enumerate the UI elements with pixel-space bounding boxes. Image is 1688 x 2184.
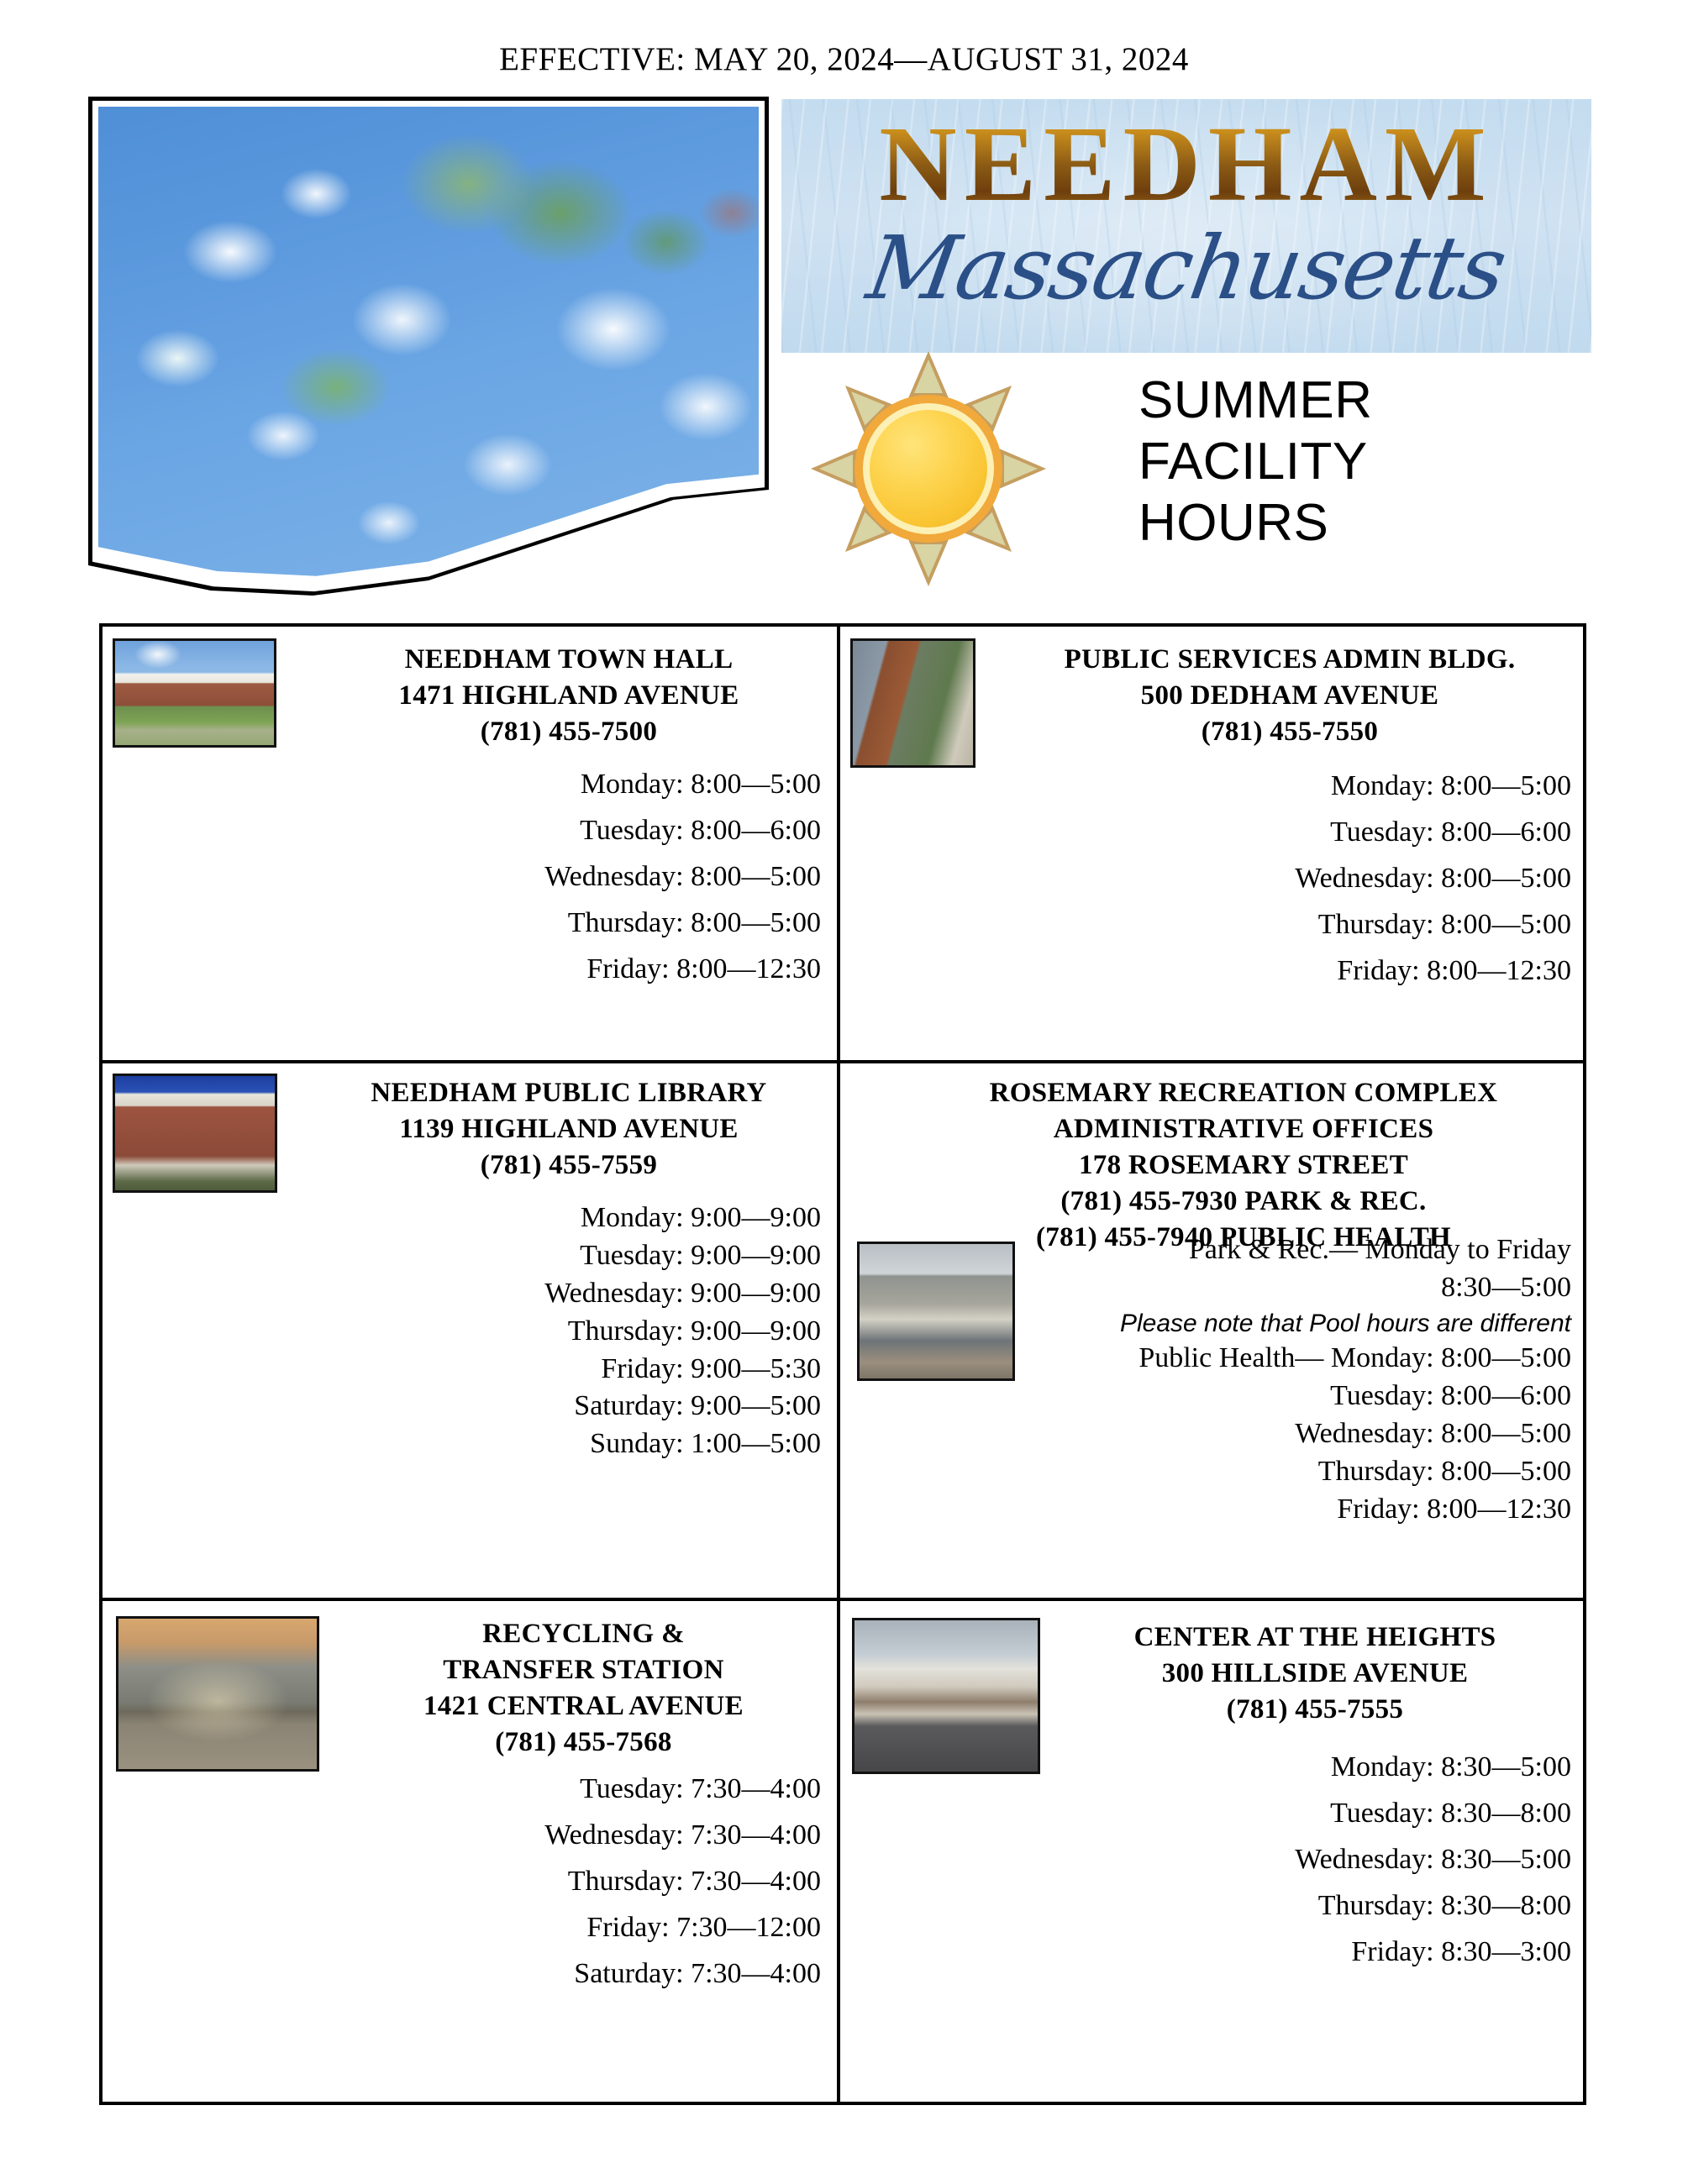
facility-hours: Monday: 8:00—5:00Tuesday: 8:00—6:00Wedne… [317, 761, 821, 992]
sun-ray-n [908, 351, 949, 398]
sun-ray-s [908, 539, 949, 586]
facility-hours: Monday: 9:00—9:00Tuesday: 9:00—9:00Wedne… [317, 1200, 821, 1463]
facility-heading: PUBLIC SERVICES ADMIN BLDG.500 DEDHAM AV… [1008, 642, 1571, 750]
facility-cell-public-services-admin-bldg: PUBLIC SERVICES ADMIN BLDG.500 DEDHAM AV… [840, 627, 1583, 1060]
facility-heading: NEEDHAM PUBLIC LIBRARY1139 HIGHLAND AVEN… [317, 1075, 821, 1184]
facility-cell-center-at-the-heights: CENTER AT THE HEIGHTS300 HILLSIDE AVENUE… [840, 1601, 1583, 2102]
facility-cell-rosemary-recreation-complex: ROSEMARY RECREATION COMPLEXADMINISTRATIV… [840, 1063, 1583, 1598]
facility-hours: Monday: 8:00—5:00Tuesday: 8:00—6:00Wedne… [1008, 763, 1571, 994]
page-title-line-1: SUMMER [1138, 370, 1609, 431]
sun-ray-w [811, 449, 858, 489]
header-spring-blossoms-photo [88, 97, 769, 601]
recycling-transfer-station-photo [116, 1616, 319, 1772]
sun-icon [811, 351, 1046, 586]
facility-heading: RECYCLING &TRANSFER STATION1421 CENTRAL … [346, 1616, 821, 1761]
facility-hours-table: NEEDHAM TOWN HALL1471 HIGHLAND AVENUE(78… [99, 623, 1586, 2105]
table-row: RECYCLING &TRANSFER STATION1421 CENTRAL … [103, 1601, 1583, 2102]
facility-hours: Park & Rec.— Monday to Friday8:30—5:00 P… [966, 1231, 1571, 1529]
logo-town-wordmark: NEEDHAM [781, 106, 1591, 222]
table-row: NEEDHAM TOWN HALL1471 HIGHLAND AVENUE(78… [103, 627, 1583, 1063]
page-title: SUMMER FACILITY HOURS [1138, 370, 1609, 554]
page-title-line-2: FACILITY [1138, 431, 1609, 492]
header-photo-image [98, 107, 759, 591]
logo-state-script: Massachusetts [781, 217, 1591, 319]
sun-disc [870, 410, 987, 528]
facility-hours-park-and-rec: Park & Rec.— Monday to Friday8:30—5:00 [1189, 1234, 1571, 1303]
facility-cell-recycling-transfer-station: RECYCLING &TRANSFER STATION1421 CENTRAL … [103, 1601, 840, 2102]
center-at-the-heights-photo [852, 1618, 1040, 1774]
facility-heading: ROSEMARY RECREATION COMPLEXADMINISTRATIV… [916, 1075, 1571, 1255]
facility-hours: Tuesday: 7:30—4:00Wednesday: 7:30—4:00Th… [346, 1766, 821, 1997]
pool-hours-note: Please note that Pool hours are differen… [966, 1307, 1571, 1341]
facility-hours: Monday: 8:30—5:00Tuesday: 8:30—8:00Wedne… [1059, 1744, 1571, 1975]
table-row: NEEDHAM PUBLIC LIBRARY1139 HIGHLAND AVEN… [103, 1063, 1583, 1601]
facility-cell-needham-town-hall: NEEDHAM TOWN HALL1471 HIGHLAND AVENUE(78… [103, 627, 840, 1060]
facility-cell-needham-public-library: NEEDHAM PUBLIC LIBRARY1139 HIGHLAND AVEN… [103, 1063, 840, 1598]
public-services-admin-building-photo [850, 638, 975, 768]
facility-heading: NEEDHAM TOWN HALL1471 HIGHLAND AVENUE(78… [317, 642, 821, 750]
sun-ray-e [999, 449, 1046, 489]
facility-heading: CENTER AT THE HEIGHTS300 HILLSIDE AVENUE… [1059, 1620, 1571, 1728]
facility-hours-public-health: Public Health— Monday: 8:00—5:00Tuesday:… [1138, 1342, 1571, 1525]
needham-town-hall-photo [113, 638, 276, 748]
needham-massachusetts-logo: NEEDHAM Massachusetts [781, 99, 1591, 353]
page-title-line-3: HOURS [1138, 492, 1609, 554]
needham-public-library-photo [113, 1074, 277, 1193]
effective-date-line: EFFECTIVE: MAY 20, 2024—AUGUST 31, 2024 [0, 40, 1688, 78]
